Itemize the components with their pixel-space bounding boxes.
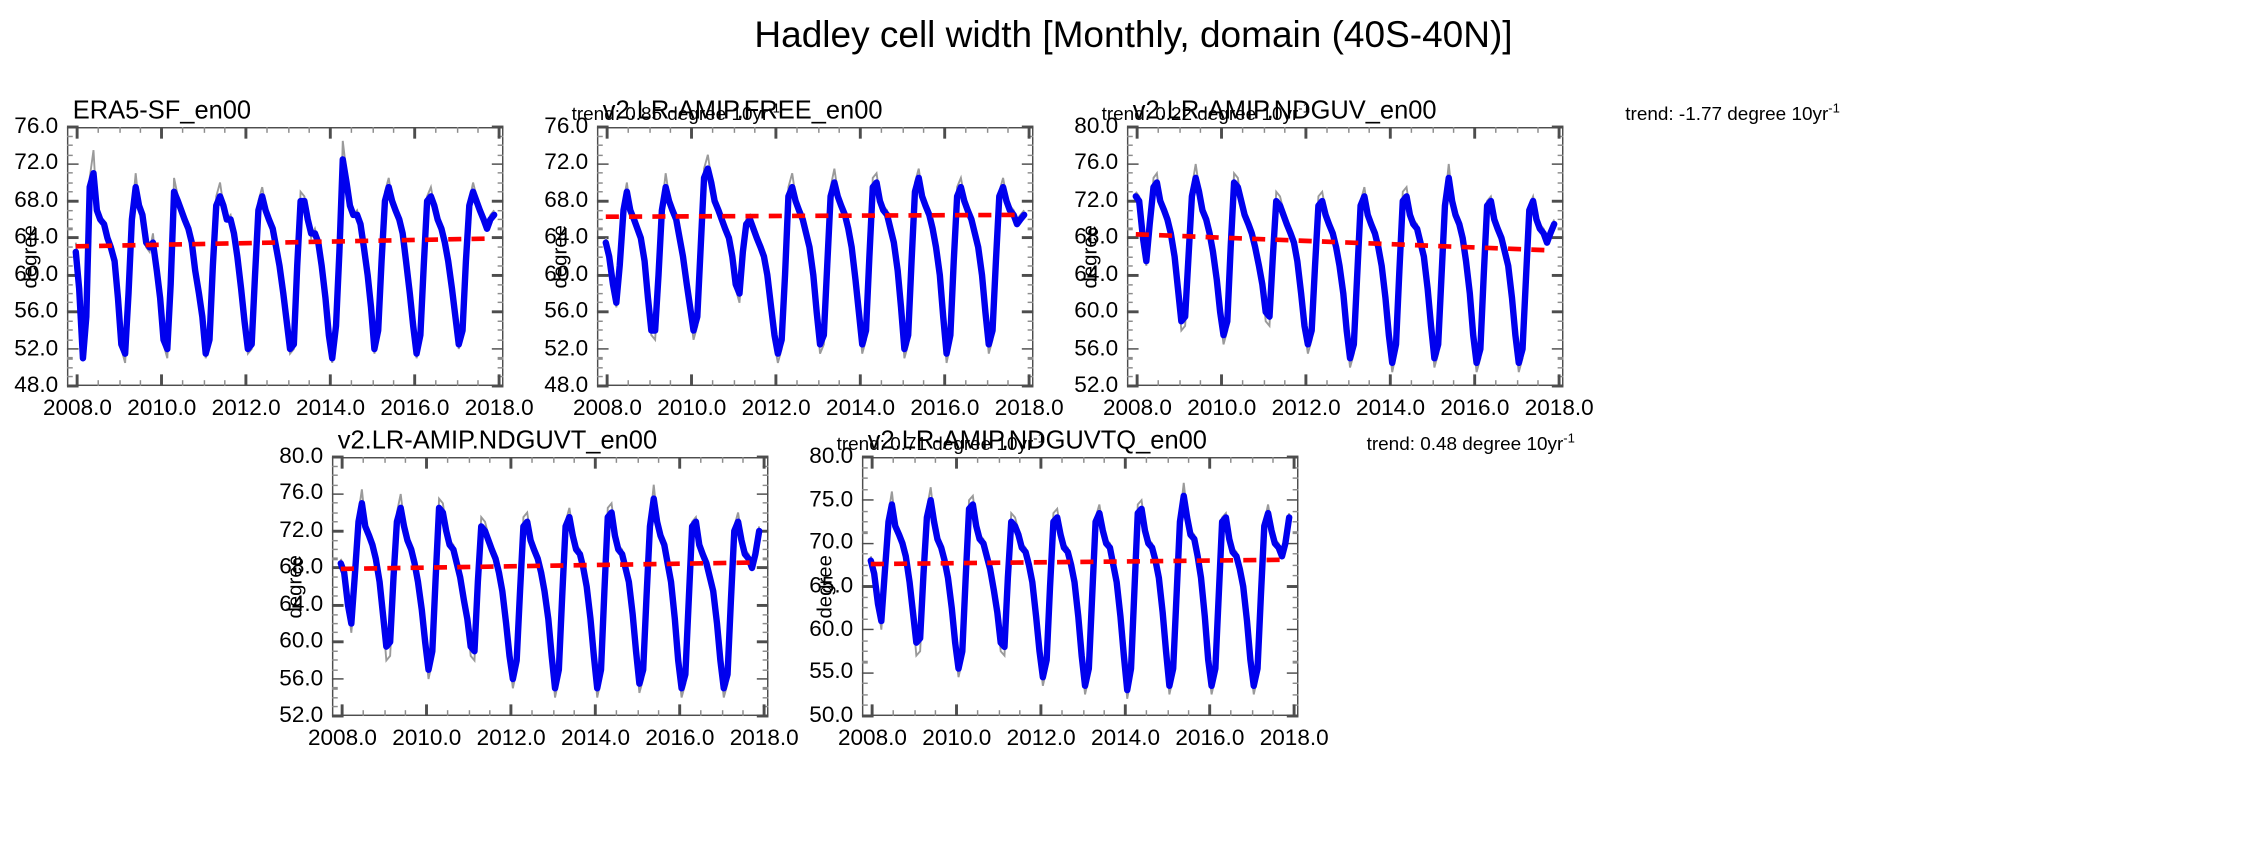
trend-line xyxy=(341,562,759,568)
smoothed-series-line xyxy=(606,169,1024,354)
smoothed-series-line xyxy=(871,496,1289,690)
smoothed-series-line xyxy=(1136,178,1554,363)
figure-title: Hadley cell width [Monthly, domain (40S-… xyxy=(0,14,2267,56)
panel-4: v2.LR-AMIP.NDGUVTQ_en00trend: 0.48 degre… xyxy=(795,425,1592,862)
trend-line xyxy=(606,215,1024,217)
trend-line xyxy=(76,238,494,246)
figure-root: Hadley cell width [Monthly, domain (40S-… xyxy=(0,0,2267,757)
series-layer xyxy=(795,425,1592,862)
trend-line xyxy=(871,560,1289,564)
trend-line xyxy=(1136,234,1554,250)
smoothed-series-line xyxy=(341,499,759,689)
